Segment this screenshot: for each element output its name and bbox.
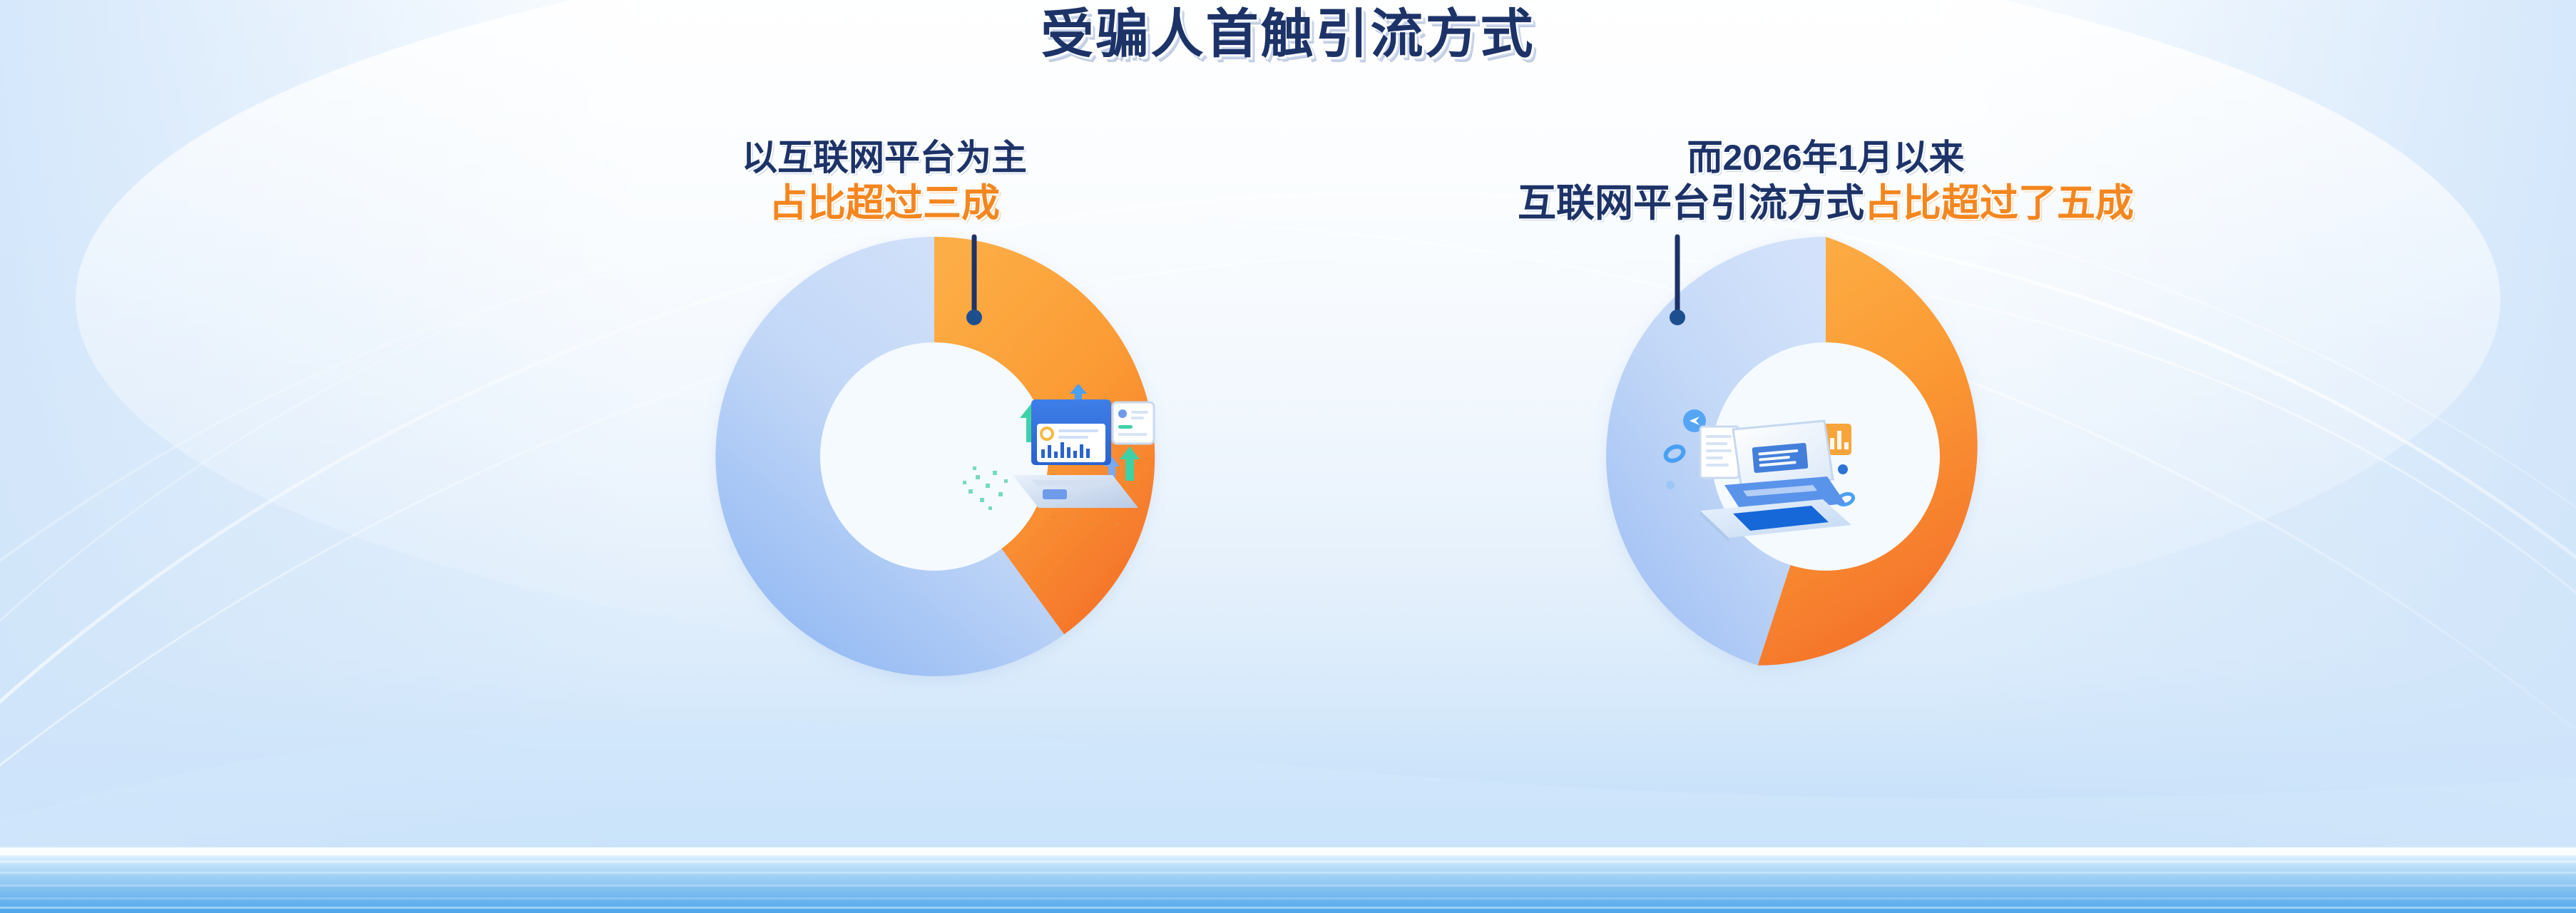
panel-left: 以互联网平台为主 占比超过三成 bbox=[456, 0, 1312, 913]
caption-left-line2: 占比超过三成 bbox=[456, 180, 1312, 227]
caption-left-line1: 以互联网平台为主 bbox=[456, 136, 1312, 180]
infographic-stage: 受骗人首触引流方式 以互联网平台为主 占比超过三成 bbox=[0, 0, 2576, 913]
leader-dot-icon bbox=[1670, 310, 1685, 325]
laptop-base-icon bbox=[1013, 475, 1138, 508]
caption-right-line2-navy: 互联网平台引流方式 bbox=[1518, 182, 1864, 225]
caption-right-line2-orange: 占比超过了五成 bbox=[1864, 182, 2134, 225]
avatar-icon bbox=[1118, 409, 1127, 418]
illustration-right bbox=[1659, 385, 1866, 549]
caption-right-line1: 而2026年1月以来 bbox=[1269, 136, 2382, 180]
dot-icon bbox=[1666, 481, 1675, 489]
touchpad-icon bbox=[1043, 489, 1067, 499]
text-line-icon bbox=[1058, 436, 1088, 439]
leader-dot-icon bbox=[966, 310, 982, 325]
illustration-left bbox=[951, 375, 1158, 539]
profile-card-icon bbox=[1113, 402, 1154, 444]
pointer-left bbox=[966, 237, 983, 330]
pointer-right bbox=[1669, 237, 1686, 330]
caption-right-line2: 互联网平台引流方式占比超过了五成 bbox=[1269, 180, 2382, 227]
pixel-dust-icon bbox=[963, 466, 1008, 510]
text-line-icon bbox=[1058, 429, 1098, 432]
caption-left: 以互联网平台为主 占比超过三成 bbox=[456, 136, 1312, 227]
arrow-up-icon bbox=[1120, 447, 1140, 481]
caption-right: 而2026年1月以来 互联网平台引流方式占比超过了五成 bbox=[1269, 136, 2382, 227]
pixel-dust-icon bbox=[1051, 514, 1119, 533]
ring-icon bbox=[1663, 444, 1685, 463]
dot-icon bbox=[1838, 464, 1848, 474]
